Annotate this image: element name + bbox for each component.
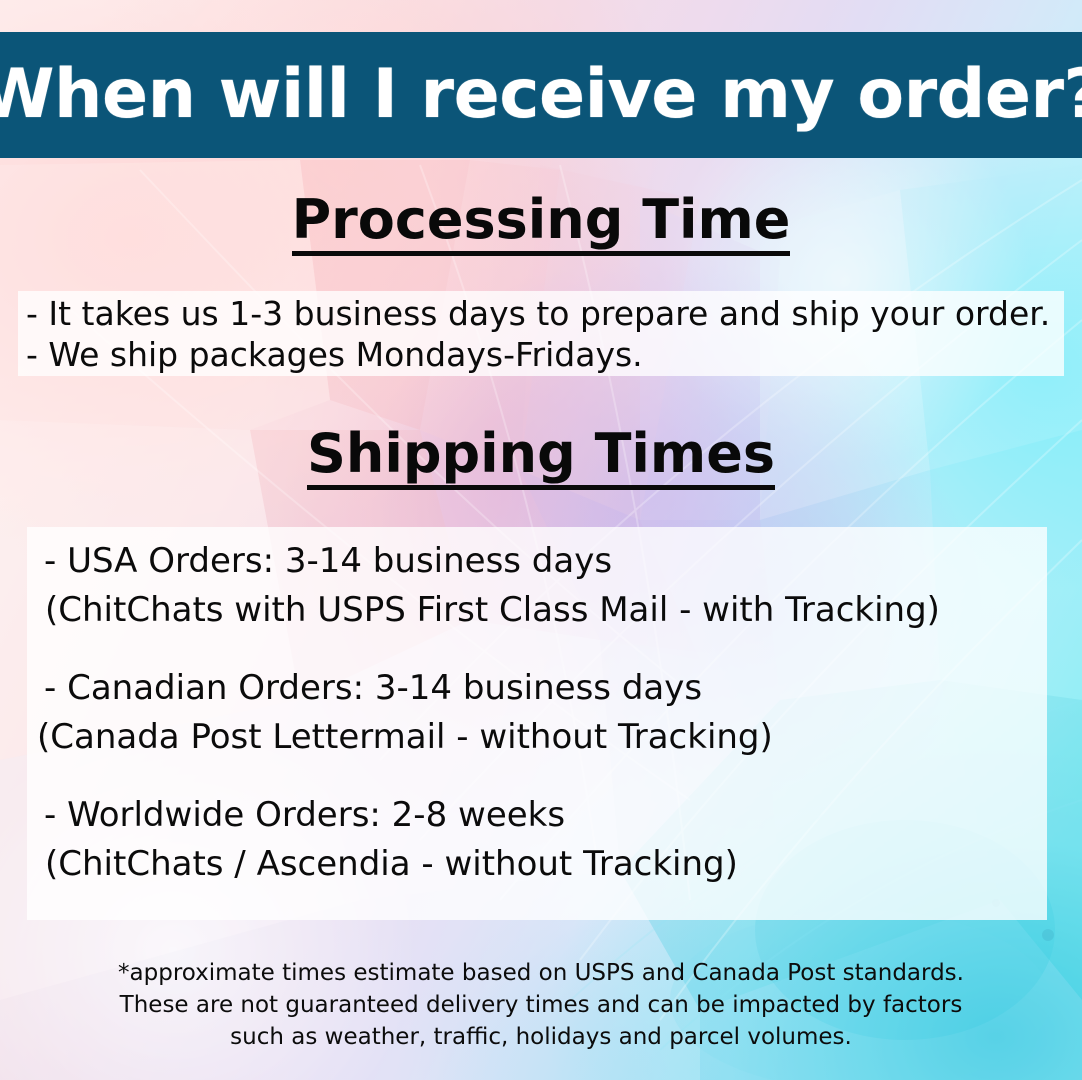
footnote-line-1: *approximate times estimate based on USP… bbox=[0, 957, 1082, 989]
shipping-group-canada: - Canadian Orders: 3-14 business days (C… bbox=[37, 664, 1047, 762]
shipping-worldwide-line-1: - Worldwide Orders: 2-8 weeks bbox=[37, 791, 1047, 840]
section-heading-processing: Processing Time bbox=[0, 193, 1082, 256]
shipping-canada-line-1: - Canadian Orders: 3-14 business days bbox=[37, 664, 1047, 713]
section-heading-processing-text: Processing Time bbox=[292, 188, 791, 251]
header-banner: When will I receive my order? bbox=[0, 32, 1082, 158]
processing-time-textbox: - It takes us 1-3 business days to prepa… bbox=[18, 291, 1064, 376]
section-heading-shipping: Shipping Times bbox=[0, 427, 1082, 490]
shipping-worldwide-line-2: (ChitChats / Ascendia - without Tracking… bbox=[37, 840, 1047, 889]
footnote-line-2: These are not guaranteed delivery times … bbox=[0, 989, 1082, 1021]
shipping-usa-line-1: - USA Orders: 3-14 business days bbox=[37, 537, 1047, 586]
shipping-group-usa: - USA Orders: 3-14 business days (ChitCh… bbox=[37, 537, 1047, 635]
shipping-usa-line-2: (ChitChats with USPS First Class Mail - … bbox=[37, 586, 1047, 635]
shipping-canada-line-2: (Canada Post Lettermail - without Tracki… bbox=[37, 713, 1047, 762]
processing-line-2: - We ship packages Mondays-Fridays. bbox=[26, 334, 1064, 375]
page-title: When will I receive my order? bbox=[0, 61, 1082, 129]
section-heading-shipping-text: Shipping Times bbox=[307, 422, 775, 485]
processing-line-1: - It takes us 1-3 business days to prepa… bbox=[26, 293, 1064, 334]
infographic-canvas: When will I receive my order? Processing… bbox=[0, 0, 1082, 1080]
shipping-times-textbox: - USA Orders: 3-14 business days (ChitCh… bbox=[27, 527, 1047, 920]
heading-underline-processing bbox=[292, 251, 791, 256]
footnote-line-3: such as weather, traffic, holidays and p… bbox=[0, 1021, 1082, 1053]
shipping-group-worldwide: - Worldwide Orders: 2-8 weeks (ChitChats… bbox=[37, 791, 1047, 889]
heading-underline-shipping bbox=[307, 485, 775, 490]
footnote-disclaimer: *approximate times estimate based on USP… bbox=[0, 957, 1082, 1053]
